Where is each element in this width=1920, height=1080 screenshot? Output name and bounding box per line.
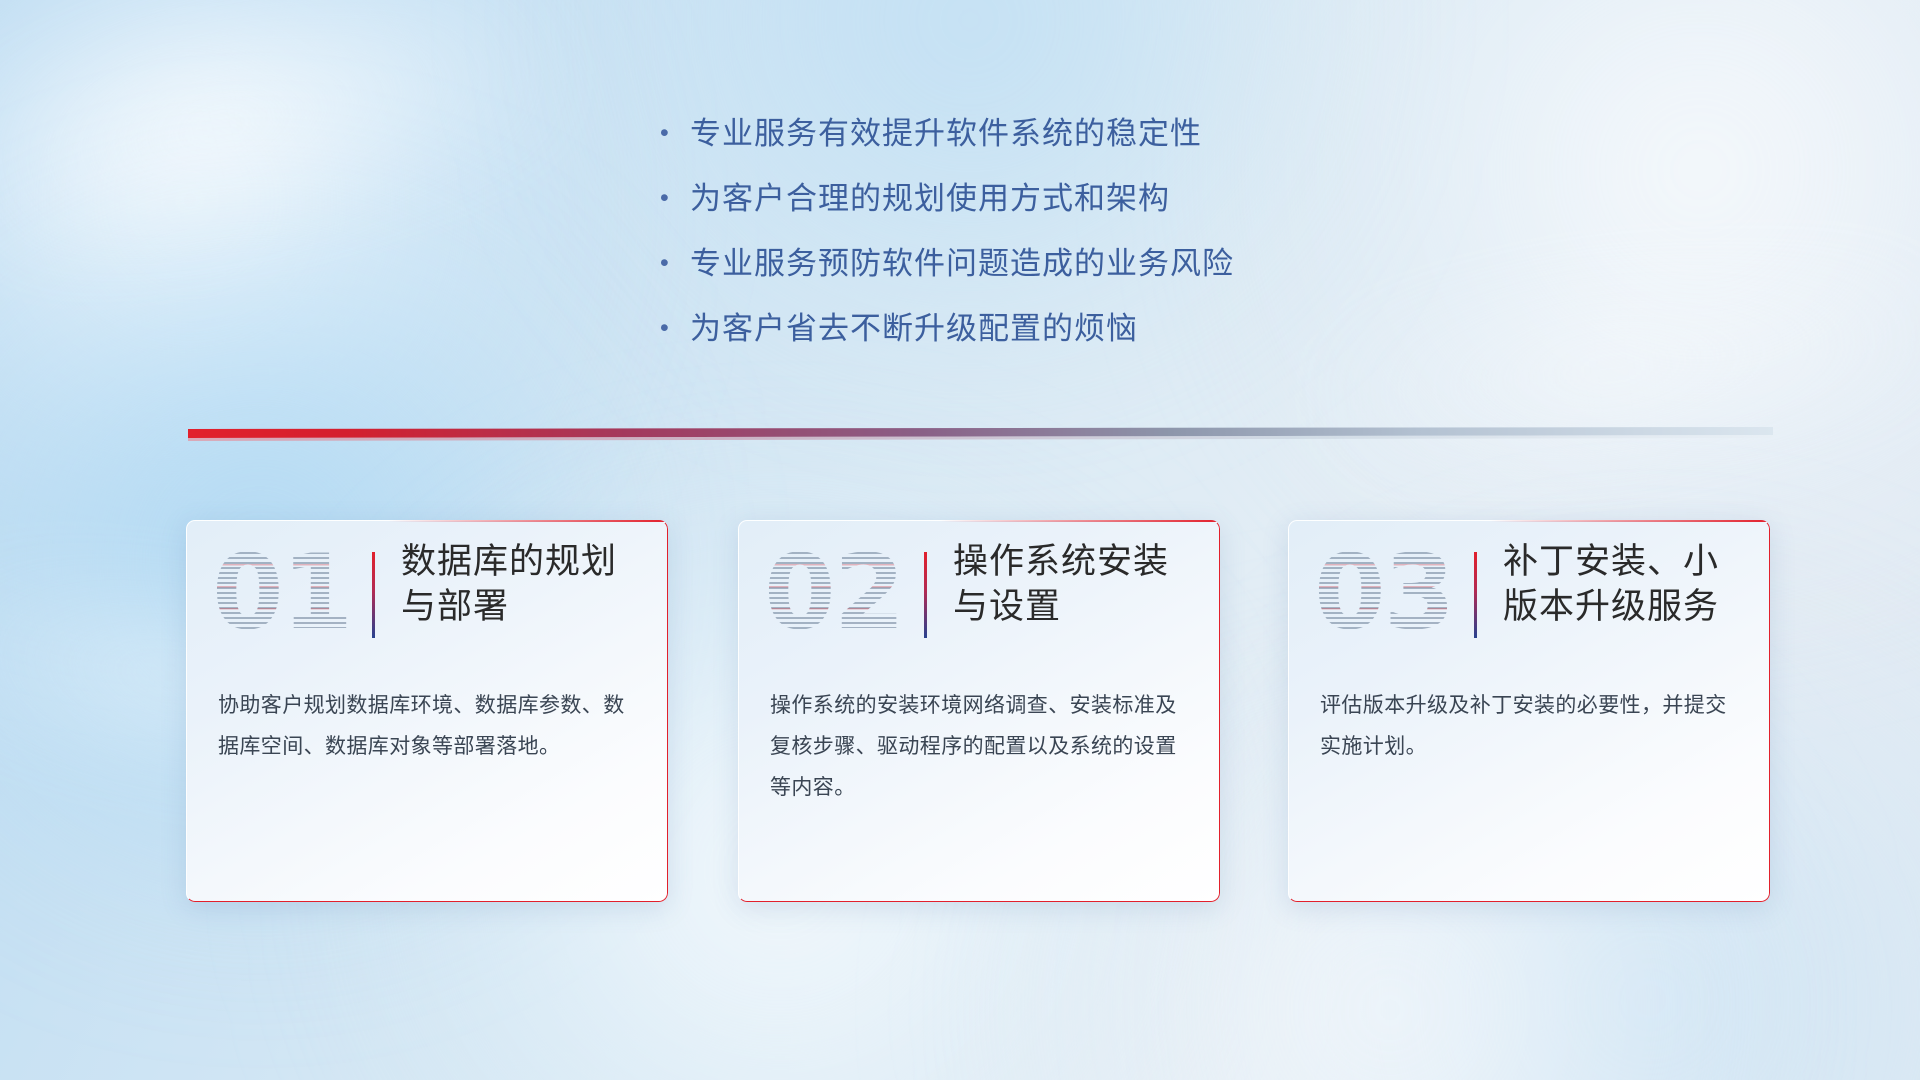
list-item: • 为客户合理的规划使用方式和架构 <box>660 173 1234 238</box>
list-item: • 专业服务有效提升软件系统的稳定性 <box>660 108 1234 173</box>
benefits-bullet-list: • 专业服务有效提升软件系统的稳定性 • 为客户合理的规划使用方式和架构 • 专… <box>660 108 1234 368</box>
bullet-dot-icon: • <box>660 186 690 211</box>
card-number-watermark: 02 <box>764 542 903 645</box>
card-number-watermark: 01 <box>212 542 351 645</box>
bullet-dot-icon: • <box>660 121 690 146</box>
bullet-text-3: 专业服务预防软件问题造成的业务风险 <box>690 238 1234 283</box>
card-number-watermark: 03 <box>1314 542 1453 645</box>
card-title: 操作系统安装与设置 <box>953 540 1193 630</box>
bullet-text-1: 专业服务有效提升软件系统的稳定性 <box>690 108 1202 153</box>
card-title-accent-bar <box>1474 552 1477 638</box>
bullet-text-2: 为客户合理的规划使用方式和架构 <box>690 173 1170 218</box>
card-header: 01 01 数据库的规划与部署 <box>186 520 668 666</box>
card-description: 协助客户规划数据库环境、数据库参数、数据库空间、数据库对象等部署落地。 <box>218 686 638 768</box>
card-description: 评估版本升级及补丁安装的必要性，并提交实施计划。 <box>1320 686 1740 768</box>
section-divider <box>188 427 1773 443</box>
bullet-dot-icon: • <box>660 251 690 276</box>
card-header: 03 03 补丁安装、小版本升级服务 <box>1288 520 1770 666</box>
list-item: • 专业服务预防软件问题造成的业务风险 <box>660 238 1234 303</box>
service-card-03[interactable]: 03 03 补丁安装、小版本升级服务 评估版本升级及补丁安装的必要性，并提交实施… <box>1288 520 1770 902</box>
card-description: 操作系统的安装环境网络调查、安装标准及复核步骤、驱动程序的配置以及系统的设置等内… <box>770 686 1190 809</box>
card-title: 数据库的规划与部署 <box>401 540 641 630</box>
service-card-group: 01 01 数据库的规划与部署 协助客户规划数据库环境、数据库参数、数据库空间、… <box>0 520 1920 920</box>
card-title-accent-bar <box>924 552 927 638</box>
bullet-text-4: 为客户省去不断升级配置的烦恼 <box>690 303 1138 348</box>
card-title-accent-bar <box>372 552 375 638</box>
list-item: • 为客户省去不断升级配置的烦恼 <box>660 303 1234 368</box>
divider-shape <box>188 427 1773 443</box>
card-header: 02 02 操作系统安装与设置 <box>738 520 1220 666</box>
service-card-01[interactable]: 01 01 数据库的规划与部署 协助客户规划数据库环境、数据库参数、数据库空间、… <box>186 520 668 902</box>
bullet-dot-icon: • <box>660 316 690 341</box>
card-title: 补丁安装、小版本升级服务 <box>1503 540 1743 630</box>
service-card-02[interactable]: 02 02 操作系统安装与设置 操作系统的安装环境网络调查、安装标准及复核步骤、… <box>738 520 1220 902</box>
